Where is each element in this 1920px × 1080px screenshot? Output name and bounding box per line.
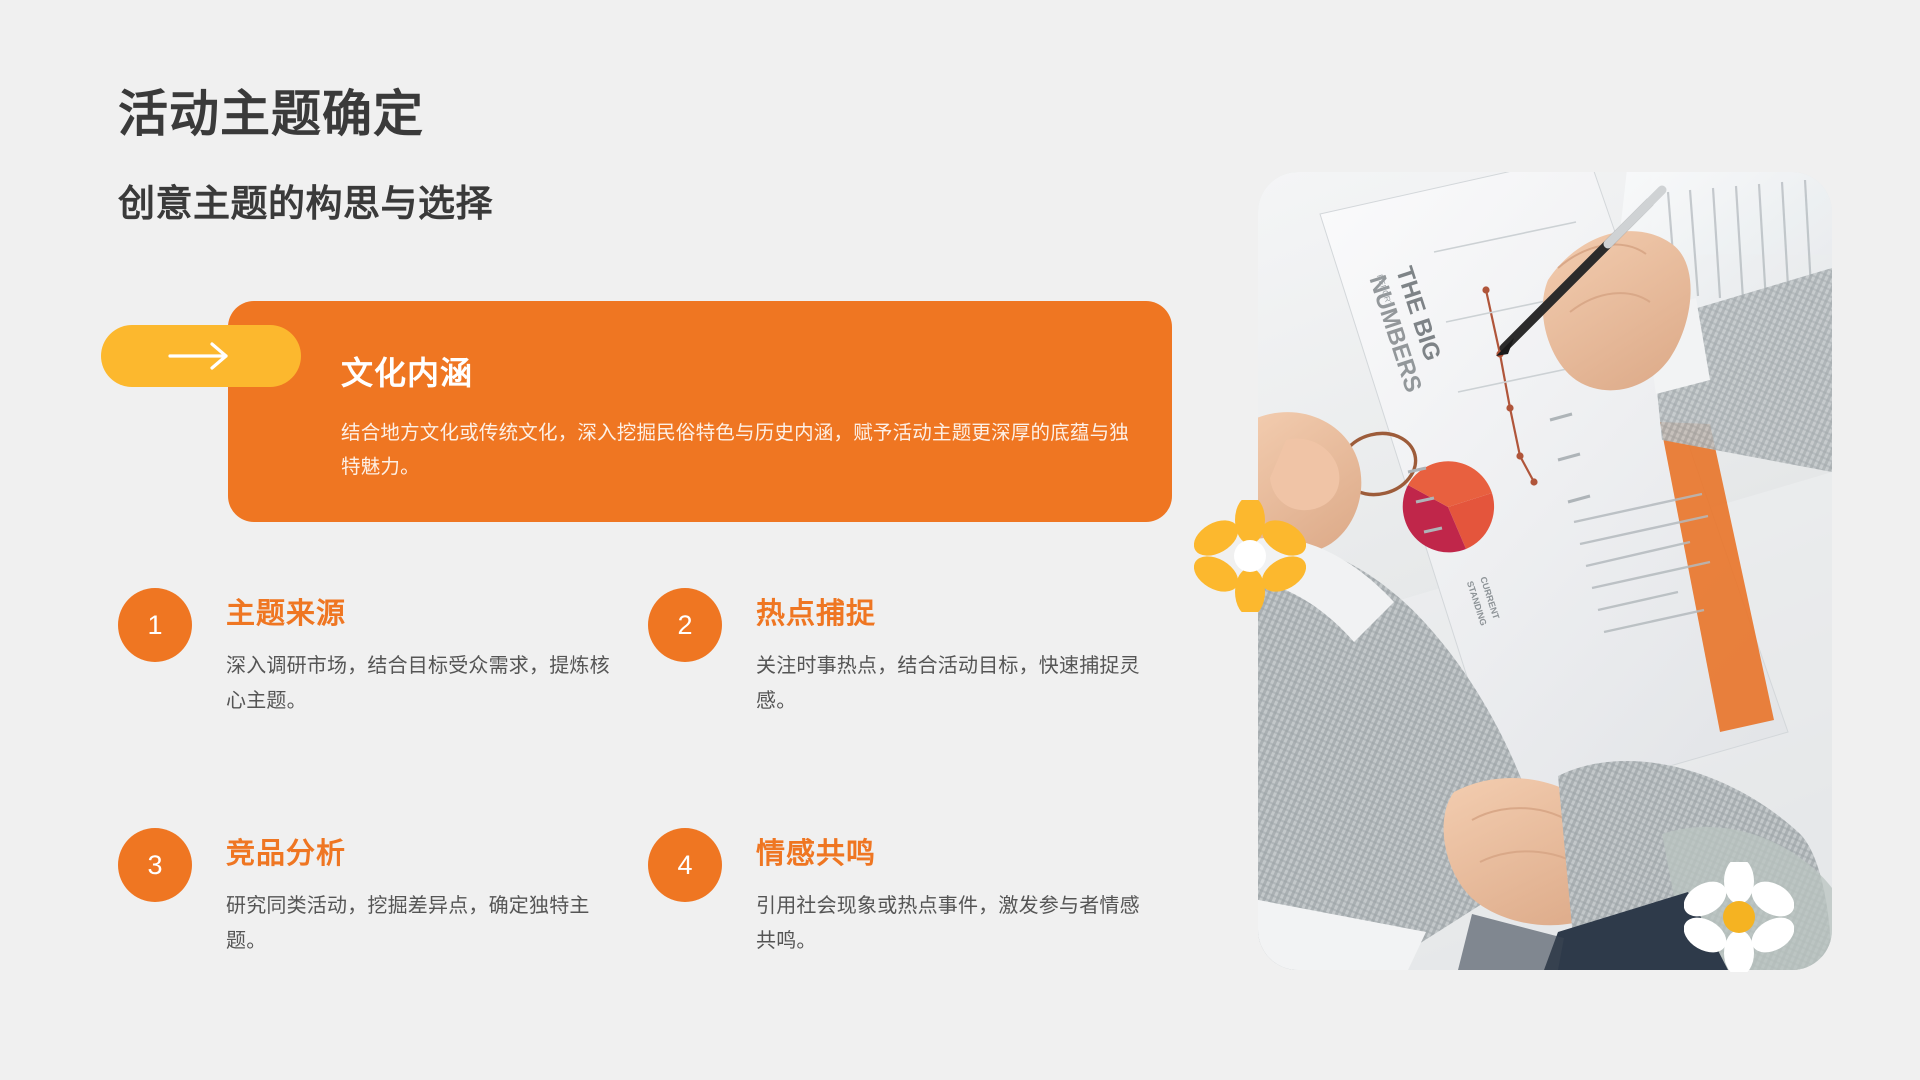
flower-icon [1194,500,1306,612]
item-number-badge: 1 [118,588,192,662]
highlight-card-body: 结合地方文化或传统文化，深入挖掘民俗特色与历史内涵，赋予活动主题更深厚的底蕴与独… [341,416,1141,484]
highlight-card: 文化内涵 结合地方文化或传统文化，深入挖掘民俗特色与历史内涵，赋予活动主题更深厚… [228,301,1172,522]
item-title: 热点捕捉 [756,590,876,632]
hero-photo: sanil THE BIG NUMBERS REPORT [1258,172,1832,970]
photo-illustration: sanil THE BIG NUMBERS REPORT [1258,172,1832,970]
item-number-badge: 3 [118,828,192,902]
item-number-badge: 4 [648,828,722,902]
item-title: 竞品分析 [226,830,346,872]
arrow-pill-button[interactable] [101,325,301,387]
slide-root: 活动主题确定 创意主题的构思与选择 文化内涵 结合地方文化或传统文化，深入挖掘民… [0,0,1920,1080]
item-description: 引用社会现象或热点事件，激发参与者情感共鸣。 [756,889,1146,959]
page-title: 活动主题确定 [118,84,424,144]
item-description: 关注时事热点，结合活动目标，快速捕捉灵感。 [756,649,1146,719]
highlight-card-title: 文化内涵 [341,348,473,394]
item-title: 主题来源 [226,590,346,632]
arrow-right-icon [166,341,236,371]
flower-icon [1684,862,1794,972]
item-description: 研究同类活动，挖掘差异点，确定独特主题。 [226,889,616,959]
item-description: 深入调研市场，结合目标受众需求，提炼核心主题。 [226,649,616,719]
item-number-badge: 2 [648,588,722,662]
item-title: 情感共鸣 [756,830,876,872]
page-subtitle: 创意主题的构思与选择 [118,182,493,226]
